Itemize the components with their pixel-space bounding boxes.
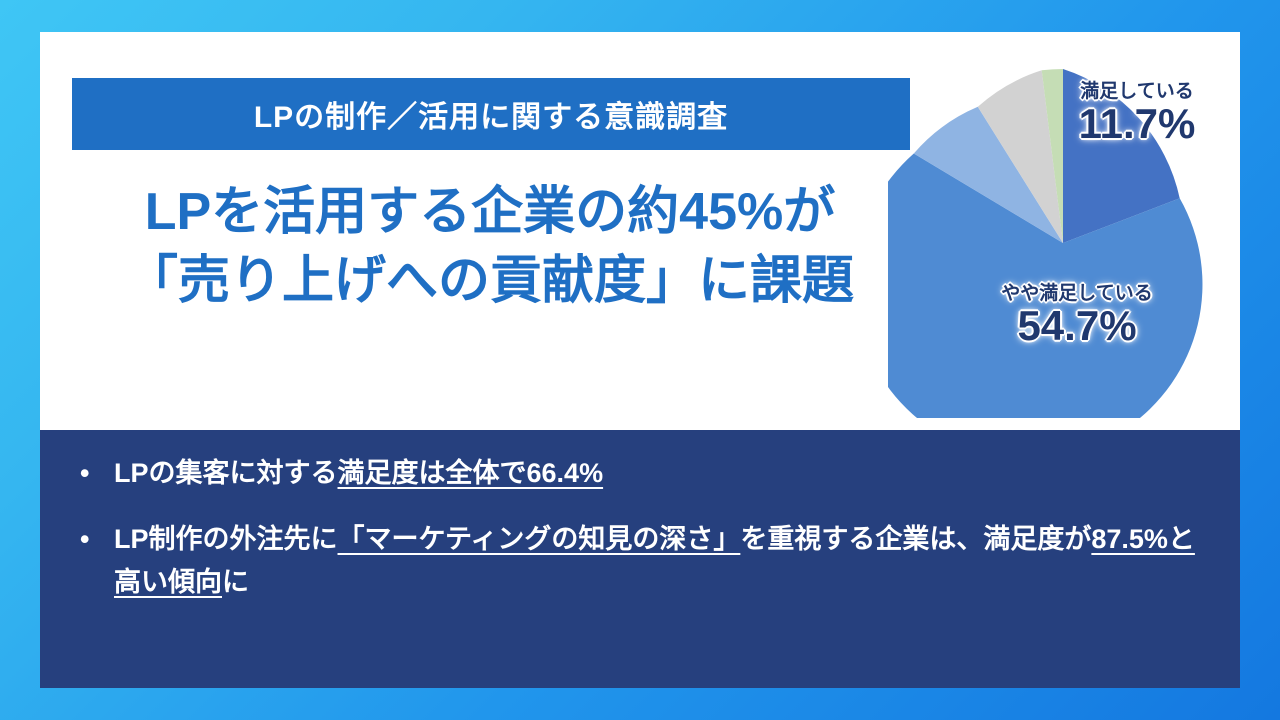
pie-label-somewhat-category: やや満足している — [962, 284, 1192, 304]
bullet-2-underlined: 「マーケティングの知見の深さ」 — [338, 524, 741, 554]
bullet-marker-icon: • — [80, 518, 114, 562]
bullet-1-underlined: 満足度は全体で66.4% — [338, 458, 604, 488]
bullet-2-pre2: 度が — [1037, 524, 1091, 554]
pie-label-satisfied-value: 11.7% — [1032, 102, 1242, 146]
pie-label-satisfied: 満足している 11.7% — [1032, 82, 1242, 146]
pie-label-satisfied-category: 満足している — [1032, 82, 1242, 102]
headline-line-1: LPを活用する企業の約45%が — [60, 178, 920, 247]
bullet-2-text: LP制作の外注先に「マーケティングの知見の深さ」を重視する企業は、満足度が87.… — [114, 518, 1218, 605]
survey-title-text: LPの制作／活用に関する意識調査 — [254, 92, 728, 136]
slide-canvas: 満足している 11.7% やや満足している 54.7% LPの制作／活用に関する… — [0, 0, 1280, 720]
key-findings-list: • LPの集客に対する満足度は全体で66.4% • LP制作の外注先に「マーケテ… — [80, 452, 1218, 627]
headline-line-2: 「売り上げへの貢献度」に課題 — [60, 247, 920, 316]
key-findings-panel: • LPの集客に対する満足度は全体で66.4% • LP制作の外注先に「マーケテ… — [40, 430, 1240, 688]
survey-title-ribbon: LPの制作／活用に関する意識調査 — [72, 78, 910, 150]
bullet-2-post: を重視する企業は、満足 — [740, 524, 1037, 554]
bullet-1-text: LPの集客に対する満足度は全体で66.4% — [114, 452, 1218, 496]
pie-label-somewhat-value: 54.7% — [962, 304, 1192, 348]
bullet-marker-icon: • — [80, 452, 114, 496]
bullet-1-pre: LPの集客に対する — [114, 458, 338, 488]
list-item: • LPの集客に対する満足度は全体で66.4% — [80, 452, 1218, 496]
list-item: • LP制作の外注先に「マーケティングの知見の深さ」を重視する企業は、満足度が8… — [80, 518, 1218, 605]
bullet-2-pre: LP制作の外注先に — [114, 524, 338, 554]
pie-label-somewhat-satisfied: やや満足している 54.7% — [962, 284, 1192, 348]
bullet-2-post2: に — [222, 567, 249, 597]
headline-block: LPを活用する企業の約45%が 「売り上げへの貢献度」に課題 — [60, 178, 920, 315]
